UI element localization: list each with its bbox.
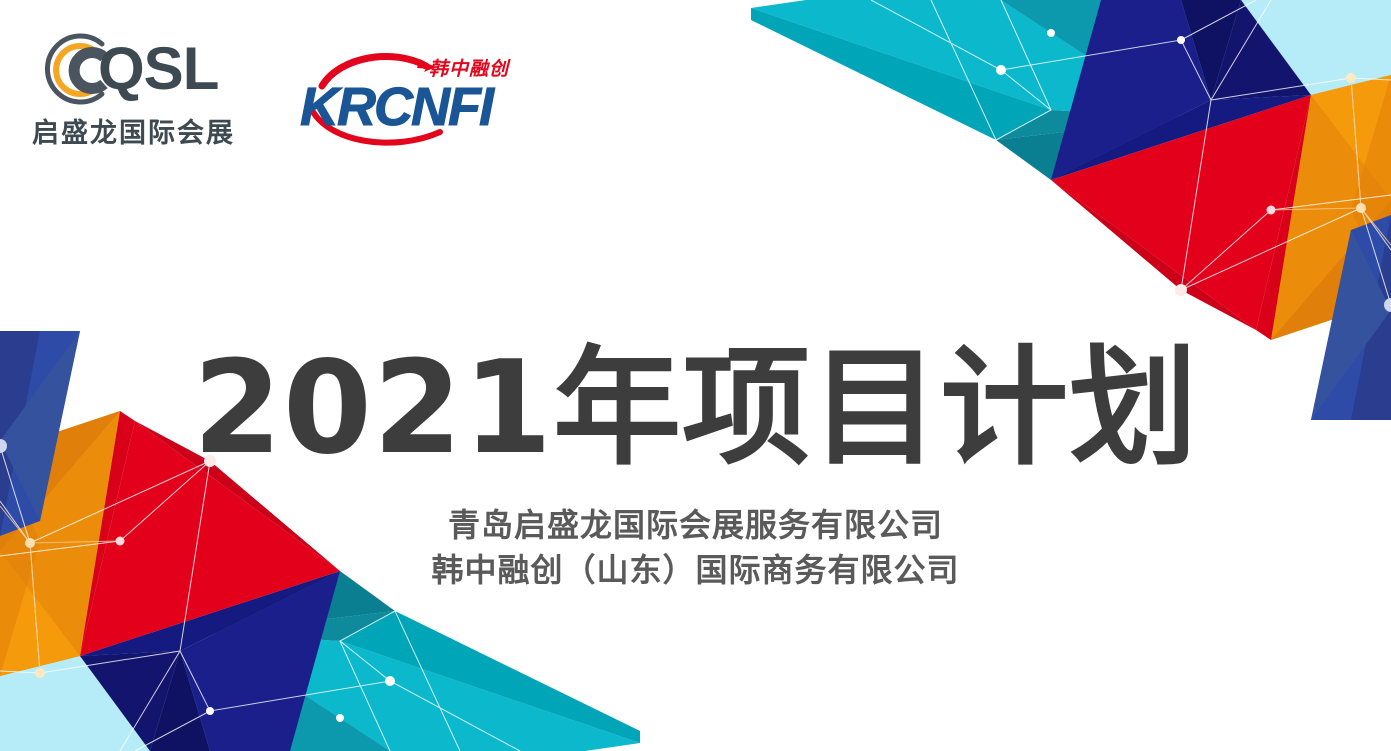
logo-krcnfi: 韩中融创 KRCNFI [298, 48, 523, 158]
subtitle-block: 青岛启盛龙国际会展服务有限公司 韩中融创（山东）国际商务有限公司 [0, 503, 1391, 594]
logo-bar: QSL 启盛龙国际会展 韩中融创 KRCNFI [30, 30, 523, 158]
company-name-line-1: 青岛启盛龙国际会展服务有限公司 [0, 503, 1391, 548]
krcnfi-wordmark: KRCNFI [300, 80, 492, 134]
qsl-wordmark: QSL [98, 39, 218, 99]
logo-qsl: QSL 启盛龙国际会展 [30, 30, 258, 150]
company-name-line-2: 韩中融创（山东）国际商务有限公司 [0, 548, 1391, 593]
page-title: 2021年项目计划 [0, 339, 1391, 480]
slide-canvas: QSL 启盛龙国际会展 韩中融创 KRCNFI 2021年项目计划 青岛启盛龙国… [0, 0, 1391, 751]
qsl-subtitle: 启盛龙国际会展 [32, 111, 258, 150]
